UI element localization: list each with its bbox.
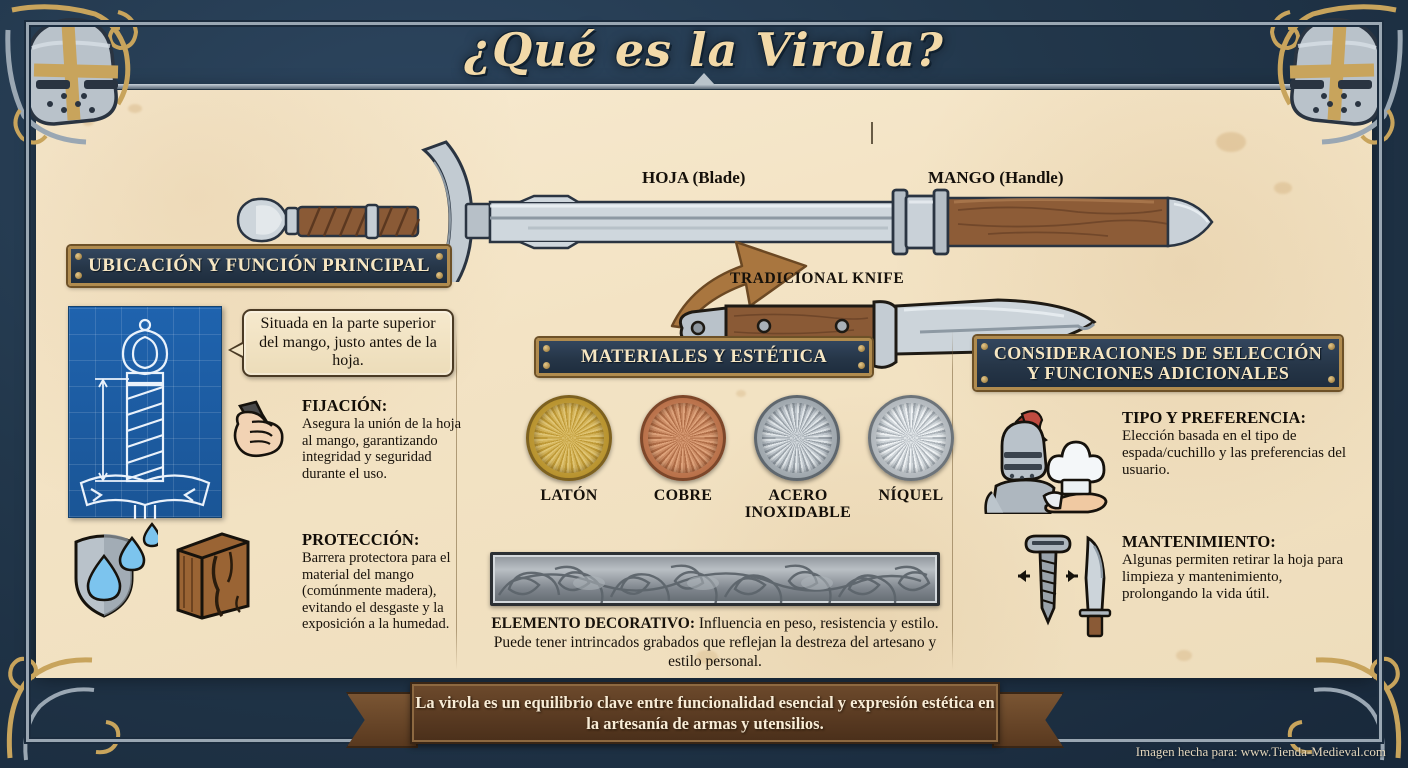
proteccion-text: Barrera protectora para el material del … xyxy=(302,550,466,633)
decorative-element-text: ELEMENTO DECORATIVO: Influencia en peso,… xyxy=(478,615,952,672)
sword-blueprint-icon xyxy=(68,306,222,518)
ribbon-tail-right xyxy=(992,692,1064,748)
handle-label: MANGO (Handle) xyxy=(928,168,1064,188)
infographic-poster: ¿Qué es la Virola? xyxy=(0,0,1408,768)
parchment-sheet: HOJA (Blade) MANGO (Handle) VIROLA (Féru… xyxy=(36,90,1372,678)
page-title: ¿Qué es la Virola? xyxy=(464,23,944,77)
brass-disc-icon xyxy=(526,395,612,481)
right-panel-header: CONSIDERACIONES DE SELECCIÓN Y FUNCIONES… xyxy=(974,336,1342,390)
material-label-cobre: COBRE xyxy=(630,488,736,505)
steel-disc-icon xyxy=(754,395,840,481)
copper-disc-icon xyxy=(640,395,726,481)
left-item-fijacion: FIJACIÓN: Asegura la unión de la hoja al… xyxy=(302,396,462,482)
wood-block-icon xyxy=(172,530,252,620)
fijacion-lead: FIJACIÓN: xyxy=(302,396,462,416)
fijacion-text: Asegura la unión de la hoja al mango, ga… xyxy=(302,416,462,482)
center-panel-header: MATERIALES Y ESTÉTICA xyxy=(536,338,872,376)
decorativo-lead: ELEMENTO DECORATIVO: xyxy=(491,615,695,632)
title-divider xyxy=(40,84,1368,89)
material-label-niquel: NÍQUEL xyxy=(858,488,964,505)
mantenimiento-lead: MANTENIMIENTO: xyxy=(1122,532,1358,552)
ribbon-text: La virola es un equilibrio clave entre f… xyxy=(412,692,998,735)
fist-grip-icon xyxy=(232,400,296,462)
right-header-line1: CONSIDERACIONES DE SELECCIÓN xyxy=(994,343,1322,363)
ribbon-tail-left xyxy=(346,692,418,748)
right-item-mantenimiento: MANTENIMIENTO: Algunas permiten retirar … xyxy=(1122,532,1358,603)
proteccion-lead: PROTECCIÓN: xyxy=(302,530,466,550)
ribbon-center: La virola es un equilibrio clave entre f… xyxy=(410,682,1000,744)
location-callout-text: Situada en la parte superior del mango, … xyxy=(244,315,452,372)
material-label-laton: LATÓN xyxy=(516,488,622,505)
location-callout: Situada en la parte superior del mango, … xyxy=(242,309,454,377)
knife-label: TRADICIONAL KNIFE xyxy=(730,270,904,288)
left-panel-header: UBICACIÓN Y FUNCIÓN PRINCIPAL xyxy=(68,246,450,286)
tipo-lead: TIPO Y PREFERENCIA: xyxy=(1122,408,1348,428)
nickel-disc-icon xyxy=(868,395,954,481)
left-item-proteccion: PROTECCIÓN: Barrera protectora para el m… xyxy=(302,530,466,633)
screw-and-blade-icon xyxy=(1014,528,1134,638)
engraved-band-icon xyxy=(490,552,940,606)
label-tick xyxy=(871,122,873,144)
material-label-acero: ACERO INOXIDABLE xyxy=(738,488,858,522)
credit-text: Imagen hecha para: www.Tienda-Medieval.c… xyxy=(1136,744,1386,760)
tipo-text: Elección basada en el tipo de espada/cuc… xyxy=(1122,428,1348,479)
mantenimiento-text: Algunas permiten retirar la hoja para li… xyxy=(1122,552,1358,603)
blade-label: HOJA (Blade) xyxy=(642,168,745,188)
shield-water-drop-icon xyxy=(68,522,158,618)
right-header-line2: Y FUNCIONES ADICIONALES xyxy=(1027,363,1290,383)
callout-tail xyxy=(228,341,244,359)
right-item-tipo: TIPO Y PREFERENCIA: Elección basada en e… xyxy=(1122,408,1348,479)
summary-ribbon: La virola es un equilibrio clave entre f… xyxy=(352,680,1058,758)
knight-chef-icon xyxy=(978,408,1108,514)
